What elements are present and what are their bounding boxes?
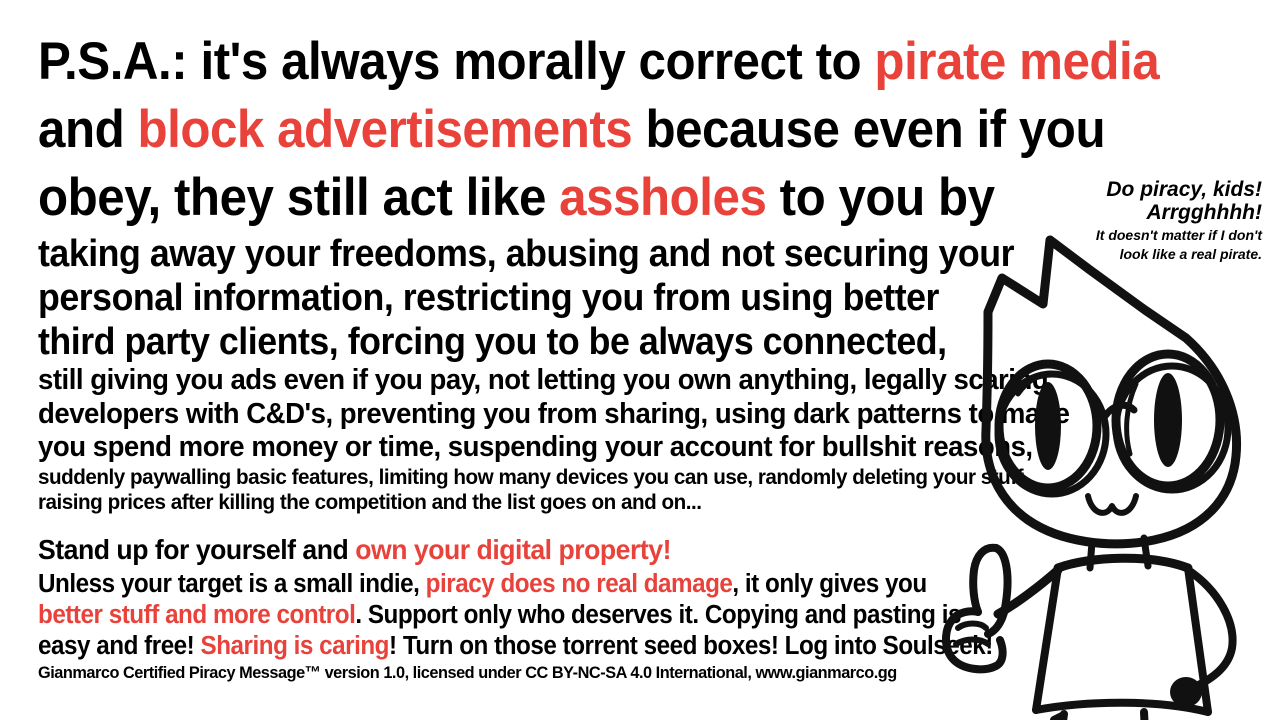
headline-line-3-accent: assholes xyxy=(559,168,766,227)
headline-line-2-black-b: because even if you xyxy=(632,100,1105,159)
cta-line-4-black-b: ! Turn on those torrent seed boxes! Log … xyxy=(389,632,993,660)
cta-line-2-accent: piracy does no real damage xyxy=(426,570,733,598)
cta-line-4-accent: Sharing is caring xyxy=(201,632,389,660)
headline-line-1-accent: pirate media xyxy=(874,32,1159,91)
cta-line-1-accent: own your digital property xyxy=(355,534,662,565)
shoulders xyxy=(1058,558,1188,568)
cta-line-4-black-a: easy and free! xyxy=(38,632,201,660)
cta-line-1-bang: ! xyxy=(663,534,671,565)
knuckle-line-1 xyxy=(958,624,986,629)
left-pupil xyxy=(1035,382,1061,470)
cat-mascot-illustration xyxy=(940,230,1280,720)
headline-line-3-black-b: to you by xyxy=(766,168,994,227)
cta-line-3-accent: better stuff and more control xyxy=(38,601,355,629)
speech-shout-line-1: Do piracy, kids! xyxy=(1002,178,1262,201)
headline-line-1-black: P.S.A.: it's always morally correct to xyxy=(38,32,874,91)
headline-line-2-black-a: and xyxy=(38,100,137,159)
psa-poster: P.S.A.: it's always morally correct to p… xyxy=(0,0,1280,720)
cta-line-3-black: . Support only who deserves it. Copying … xyxy=(355,601,961,629)
thumb-right-edge xyxy=(988,548,1008,634)
headline-line-3: obey, they still act like assholes to yo… xyxy=(38,164,1135,232)
speech-shout-line-2: Arrgghhhh! xyxy=(1002,201,1262,224)
thumb-up-icon xyxy=(973,548,996,612)
cta-line-2-black-b: , it only gives you xyxy=(732,570,926,598)
headline-line-1: P.S.A.: it's always morally correct to p… xyxy=(38,28,1135,96)
headline-line-2: and block advertisements because even if… xyxy=(38,96,1135,164)
knuckle-line-2 xyxy=(956,640,988,645)
headline-line-2-accent: block advertisements xyxy=(137,100,632,159)
right-pupil xyxy=(1154,373,1182,467)
leg-right xyxy=(1144,712,1150,720)
mouth xyxy=(1088,496,1136,513)
cta-line-1-black: Stand up for yourself and xyxy=(38,534,355,565)
headline-line-3-black-a: obey, they still act like xyxy=(38,168,559,227)
cta-line-2-black-a: Unless your target is a small indie, xyxy=(38,570,426,598)
right-hand-fist xyxy=(1170,677,1202,707)
head-outline xyxy=(986,240,1237,544)
